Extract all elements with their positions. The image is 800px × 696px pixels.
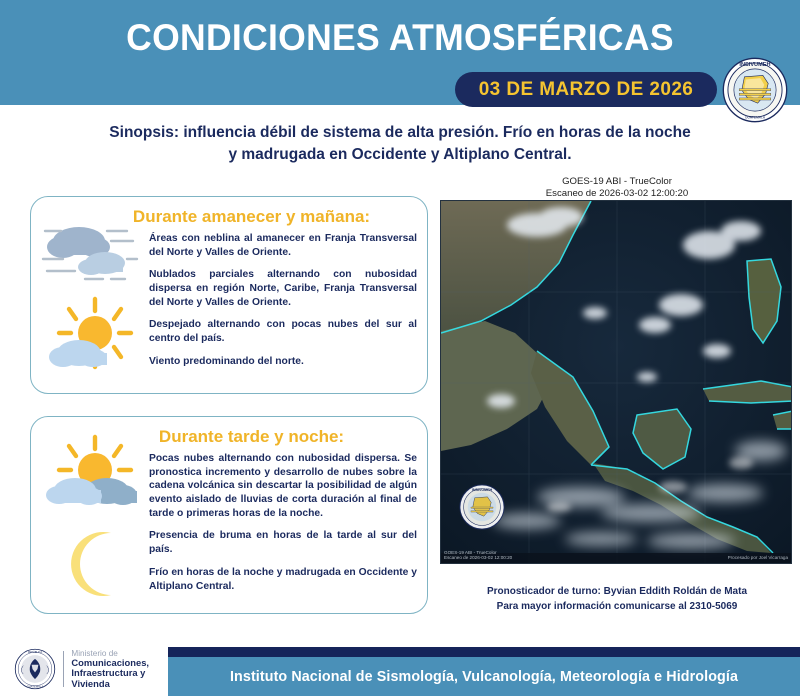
government-seal-icon: REPÚBLICA GUATEMALA xyxy=(14,648,56,690)
satellite-watermark-seal-icon: INSIVUMEH xyxy=(459,484,505,530)
morning-paragraph-2: Nublados parciales alternando con nubosi… xyxy=(149,268,417,309)
date-badge-label: 03 DE MARZO DE 2026 xyxy=(479,79,694,101)
ministry-text: Ministerio de Comunicaciones, Infraestru… xyxy=(71,649,149,690)
satellite-caption-line-1: GOES-19 ABI - TrueColor xyxy=(437,176,797,188)
institute-name: Instituto Nacional de Sismología, Vulcan… xyxy=(230,669,738,685)
panel-body-evening: Pocas nubes alternando con nubosidad dis… xyxy=(149,452,417,593)
synopsis-text: Sinopsis: influencia débil de sistema de… xyxy=(60,122,740,166)
ministry-line-4: Vivienda xyxy=(71,679,149,690)
satellite-overlay-left-line-2: Escaneo de 2026-03-02 12:00:20 xyxy=(444,555,512,561)
logo-divider xyxy=(63,651,64,687)
svg-text:GUATEMALA: GUATEMALA xyxy=(27,684,44,688)
fog-clouds-icon xyxy=(41,219,141,289)
morning-paragraph-1: Áreas con neblina al amanecer en Franja … xyxy=(149,232,417,259)
satellite-caption-line-2: Escaneo de 2026-03-02 12:00:20 xyxy=(437,188,797,200)
synopsis-line-1: Sinopsis: influencia débil de sistema de… xyxy=(60,122,740,144)
satellite-caption: GOES-19 ABI - TrueColor Escaneo de 2026-… xyxy=(437,176,797,201)
morning-paragraph-4: Viento predominando del norte. xyxy=(149,355,417,369)
morning-paragraph-3: Despejado alternando con pocas nubes del… xyxy=(149,318,417,345)
forecast-panel-morning: Durante amanecer y mañana: xyxy=(30,196,428,394)
satellite-image: INSIVUMEH GOES-19 ABI - TrueColor Escane… xyxy=(440,200,792,564)
contact-line: Para mayor información comunicarse al 23… xyxy=(437,599,797,614)
ministry-logo: REPÚBLICA GUATEMALA Ministerio de Comuni… xyxy=(14,645,164,693)
evening-paragraph-2: Presencia de bruma en horas de la tarde … xyxy=(149,529,417,556)
footer-bar: Instituto Nacional de Sismología, Vulcan… xyxy=(168,657,800,696)
svg-text:GUATEMALA: GUATEMALA xyxy=(745,115,766,119)
satellite-overlay-right: Procesado por Joel Vicarraga xyxy=(728,555,788,560)
crescent-moon-icon xyxy=(55,525,133,603)
synopsis-line-2: y madrugada en Occidente y Altiplano Cen… xyxy=(60,144,740,166)
forecast-panel-evening: Durante tarde y noche: xyxy=(30,416,428,614)
page-title: CONDICIONES ATMOSFÉRICAS xyxy=(16,17,784,59)
sun-behind-cloud-icon xyxy=(45,433,145,519)
svg-text:REPÚBLICA: REPÚBLICA xyxy=(28,651,43,654)
date-badge: 03 DE MARZO DE 2026 xyxy=(455,72,717,107)
icon-column-morning xyxy=(41,219,145,387)
panel-body-morning: Áreas con neblina al amanecer en Franja … xyxy=(149,232,417,369)
insivumeh-seal-icon: INSIVUMEH GUATEMALA xyxy=(722,57,788,123)
svg-text:INSIVUMEH: INSIVUMEH xyxy=(472,488,493,492)
weather-infographic: CONDICIONES ATMOSFÉRICAS 03 DE MARZO DE … xyxy=(0,0,800,696)
evening-paragraph-3: Frío en horas de la noche y madrugada en… xyxy=(149,566,417,593)
satellite-overlay-left: GOES-19 ABI - TrueColor Escaneo de 2026-… xyxy=(444,550,512,561)
evening-paragraph-1: Pocas nubes alternando con nubosidad dis… xyxy=(149,452,417,520)
sun-behind-cloud-icon xyxy=(45,295,139,379)
icon-column-evening xyxy=(41,439,145,607)
footer-accent-strip xyxy=(168,647,800,657)
svg-text:INSIVUMEH: INSIVUMEH xyxy=(739,62,770,68)
satellite-footer-text: Pronosticador de turno: Byvian Eddith Ro… xyxy=(437,584,797,614)
forecaster-line: Pronosticador de turno: Byvian Eddith Ro… xyxy=(437,584,797,599)
